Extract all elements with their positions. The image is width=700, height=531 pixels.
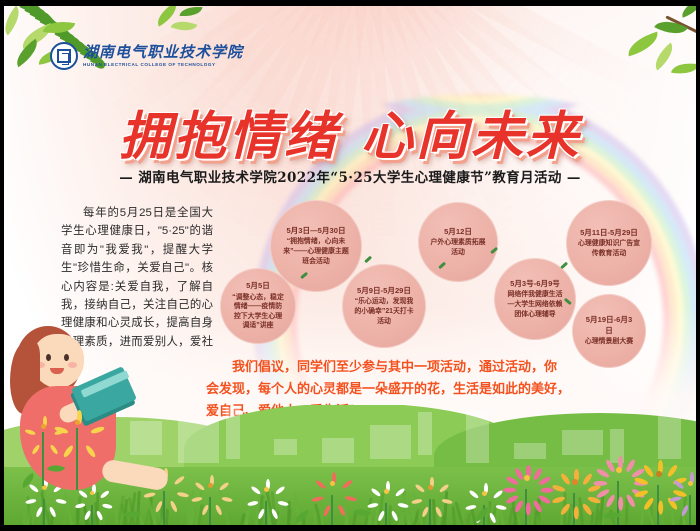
yellow-flower-icon [30, 416, 56, 486]
activity-title: 心理健康知识广告宣传教育活动 [572, 239, 646, 258]
flower-center [616, 467, 623, 474]
flower-stem [385, 503, 387, 525]
activity-title: 心理情景剧大赛 [578, 337, 640, 347]
college-name-en: HUNAN ELECTRICAL COLLEGE OF TECHNOLOGY [83, 63, 243, 68]
activity-title: “拥抱情绪，心向未来”——心理健康主题班会活动 [276, 237, 356, 266]
yellow-sunflower-icon [564, 477, 584, 525]
activity-title: “调整心态，稳定情绪——疫情防控下大学生心理调适”讲座 [226, 293, 290, 331]
flower-petal [574, 506, 579, 519]
connector-dash [560, 262, 568, 269]
activity-date: 5月11日-5月29日 [572, 228, 646, 239]
blush-shape [68, 362, 77, 368]
eye-shape [46, 354, 51, 361]
activity-date: 5月5日 [226, 281, 290, 292]
cta-line-2: 会发现，每个人的心灵都是一朵盛开的花，生活是如此的美好， [206, 378, 606, 400]
poster-root: 湖南电气职业技术学院 HUNAN ELECTRICAL COLLEGE OF T… [0, 0, 700, 531]
white-daisy-icon [376, 487, 396, 525]
flower-center [264, 487, 269, 492]
flower-center [656, 471, 663, 478]
flower-center [428, 485, 433, 490]
activity-date: 5月3号-6月9号 [500, 279, 570, 290]
flower-stem [265, 501, 267, 525]
page-title: 拥抱情绪心向未来 [4, 94, 696, 169]
yellow-flower-icon [62, 410, 92, 490]
cta-line-1: 我们倡议，同学们至少参与其中一项活动，通过活动，你 [232, 359, 557, 374]
activity-date: 5月12日 [424, 227, 492, 238]
flower-center [330, 481, 336, 487]
connector-dash [364, 256, 372, 263]
flower-center [482, 491, 487, 496]
poster-canvas: 湖南电气职业技术学院 HUNAN ELECTRICAL COLLEGE OF T… [4, 6, 696, 525]
pink-gerbera-icon [516, 473, 536, 525]
flower-stem [331, 495, 333, 525]
city-silhouette [514, 443, 546, 459]
flower-petal [658, 500, 663, 514]
activity-title: 网络伴我健康生活—大学生网络依赖团体心理辅导 [500, 290, 570, 319]
college-logo: 湖南电气职业技术学院 HUNAN ELECTRICAL COLLEGE OF T… [50, 42, 243, 70]
title-part-2: 心向未来 [361, 106, 581, 167]
city-silhouette [322, 438, 354, 463]
flower-petal [540, 488, 553, 493]
city-silhouette [562, 430, 603, 455]
activity-bubble: 5月11日-5月29日心理健康知识广告宣传教育活动 [566, 200, 652, 286]
city-silhouette [226, 407, 240, 459]
activity-title: “乐心运动，发现我的小确幸”21天打卡活动 [348, 297, 420, 326]
page-subtitle: — 湖南电气职业技术学院2022年“5·25大学生心理健康节”教育月活动 — [4, 166, 696, 186]
cream-flower-icon [200, 481, 220, 525]
city-silhouette [274, 439, 297, 455]
eye-shape [64, 354, 69, 361]
flower-center [208, 483, 213, 488]
activity-date: 5月9日-5月29日 [348, 286, 420, 297]
activity-bubble: 5月12日户外心理素质拓展活动 [418, 202, 498, 282]
flower-center [524, 475, 530, 481]
activity-bubble: 5月3日—5月30日“拥抱情绪，心向未来”——心理健康主题班会活动 [270, 200, 362, 292]
flower-center [688, 481, 694, 487]
flower-petal [695, 504, 696, 517]
flower-petal [618, 496, 623, 510]
college-name-cn: 湖南电气职业技术学院 [83, 45, 243, 60]
purple-flower-icon [680, 479, 696, 525]
flower-petal [503, 488, 516, 493]
flower-petal [514, 499, 525, 513]
flower-stem [429, 499, 431, 525]
activity-date: 5月19日-6月3日 [578, 315, 640, 336]
activity-title: 户外心理素质拓展活动 [424, 238, 492, 257]
flower-petal [526, 502, 531, 515]
activity-bubble: 5月9日-5月29日“乐心运动，发现我的小确幸”21天打卡活动 [342, 264, 426, 348]
girl-reading-book-illustration [6, 324, 196, 524]
city-silhouette [418, 412, 432, 455]
flower-center [384, 489, 389, 494]
college-emblem-icon [50, 42, 78, 70]
yellow-sunflower-icon [648, 469, 668, 525]
flower-stem [689, 495, 691, 525]
cream-flower-icon [420, 483, 440, 525]
leg-shape [101, 458, 170, 491]
city-silhouette [370, 425, 411, 459]
activity-date: 5月3日—5月30日 [276, 226, 356, 237]
city-silhouette [658, 416, 681, 459]
title-part-1: 拥抱情绪 [119, 106, 339, 167]
flower-stem [209, 497, 211, 525]
flower-center [572, 479, 578, 485]
red-flower-icon [322, 479, 342, 525]
white-daisy-icon [256, 485, 276, 525]
city-silhouette [466, 411, 489, 463]
